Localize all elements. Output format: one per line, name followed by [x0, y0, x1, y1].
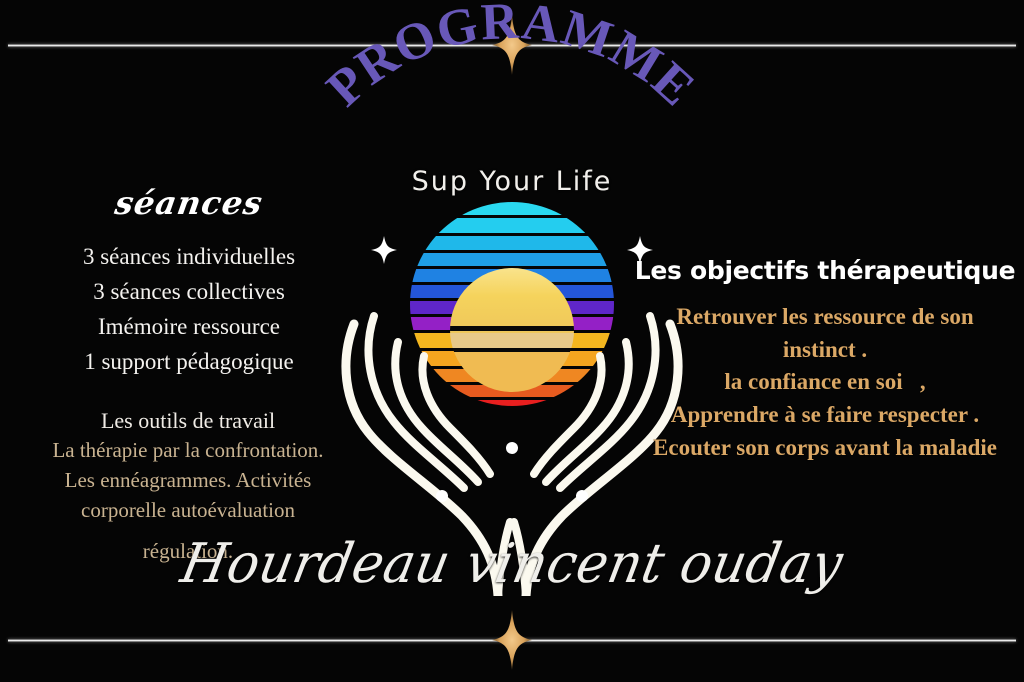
sparkle-icon-left: [371, 236, 397, 264]
list-item: la confiance en soi ,: [630, 366, 1020, 399]
objectifs-list: Retrouver les ressource de son instinct …: [630, 301, 1020, 464]
list-item: instinct .: [630, 334, 1020, 367]
author-signature: Hourdeau vincent ouday: [0, 533, 1024, 596]
list-item: Apprendre à se faire respecter .: [630, 399, 1020, 432]
outils-list: La thérapie par la confrontation. Les en…: [18, 436, 358, 525]
list-item: 3 séances collectives: [24, 275, 354, 310]
svg-text:PROGRAMME: PROGRAMME: [316, 0, 705, 118]
list-item: Imémoire ressource: [24, 310, 354, 345]
seances-heading: séances: [21, 184, 357, 222]
dot-left: [436, 490, 448, 502]
list-item: Ecouter son corps avant la maladie: [630, 432, 1020, 465]
list-item: 3 séances individuelles: [24, 240, 354, 275]
arc-title-text: PROGRAMME: [316, 0, 705, 118]
seances-section: séances 3 séances individuelles 3 séance…: [24, 184, 354, 380]
objectifs-section: Les objectifs thérapeutique Retrouver le…: [630, 256, 1020, 464]
dot-right: [576, 490, 588, 502]
list-item: corporelle autoévaluation: [18, 496, 358, 526]
list-item: La thérapie par la confrontation.: [18, 436, 358, 466]
outils-heading: Les outils de travail: [18, 408, 358, 434]
list-item: 1 support pédagogique: [24, 345, 354, 380]
list-item: Les ennéagrammes. Activités: [18, 466, 358, 496]
bottom-divider-rule: [8, 639, 1016, 642]
poster-canvas: PROGRAMME Sup Your Life: [0, 0, 1024, 682]
dot-center: [506, 442, 518, 454]
list-item: Retrouver les ressource de son: [630, 301, 1020, 334]
seances-list: 3 séances individuelles 3 séances collec…: [24, 240, 354, 380]
objectifs-heading: Les objectifs thérapeutique: [630, 256, 1020, 285]
